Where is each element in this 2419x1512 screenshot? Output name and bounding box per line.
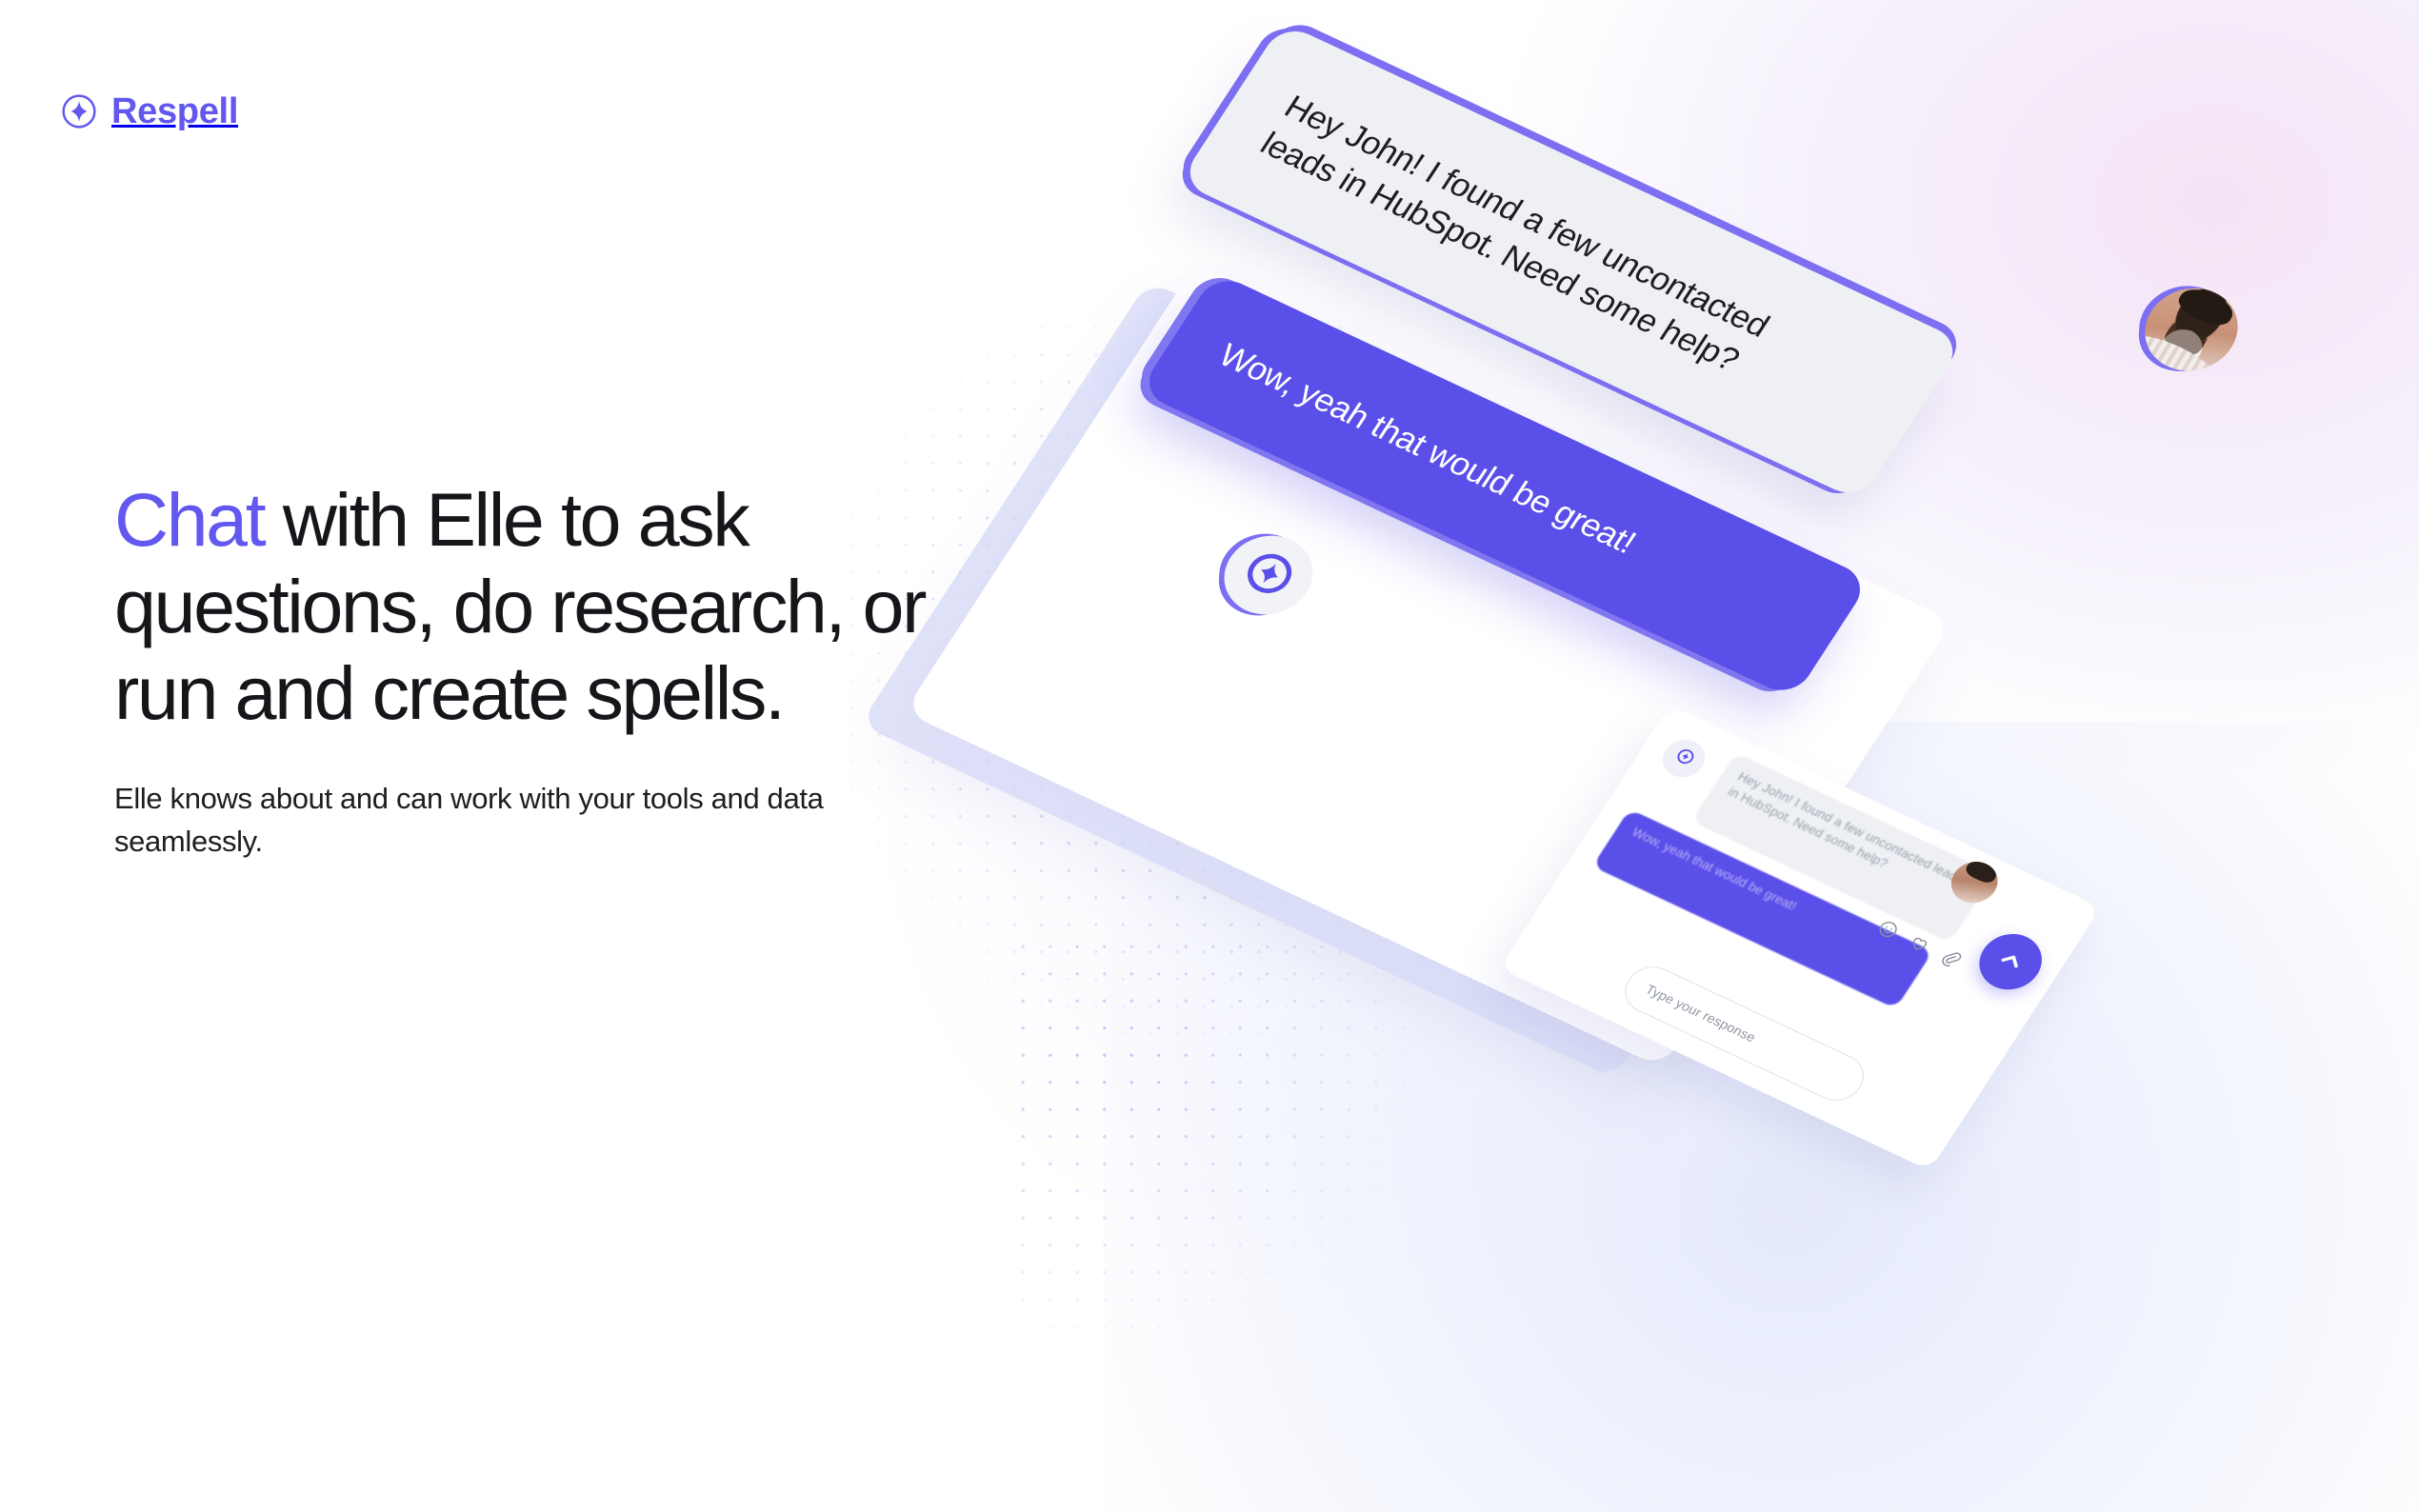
mini-composer-placeholder: Type your response [1643,982,1759,1044]
mini-avatar-hair [1963,858,2000,885]
mini-composer-input[interactable]: Type your response [1615,959,1873,1108]
page-title: Chat with Elle to ask questions, do rese… [114,476,1019,737]
sparkle-circle-icon [61,93,97,129]
mini-elle-avatar [1655,733,1713,784]
brand-logo[interactable]: Respell [61,93,238,129]
hero-copy: Chat with Elle to ask questions, do rese… [114,476,1019,864]
attachment-icon[interactable] [1933,943,1968,972]
headline-accent: Chat [114,477,264,562]
hero-subcopy: Elle knows about and can work with your … [114,778,971,864]
dot-grid-pattern-lower [1010,933,1419,1343]
hero-page: Respell Chat with Elle to ask questions,… [0,0,2419,1512]
send-button[interactable] [1968,925,2053,999]
john-avatar [2128,274,2254,385]
avatar-hair [2172,282,2239,330]
chat-illustration: Hey John! I found a few uncontacted lead… [981,114,2419,1371]
chevron-up-icon [1989,942,2032,982]
sparkle-circle-icon [1669,745,1698,771]
sparkle-circle-icon [1232,543,1304,607]
brand-name: Respell [111,93,238,129]
